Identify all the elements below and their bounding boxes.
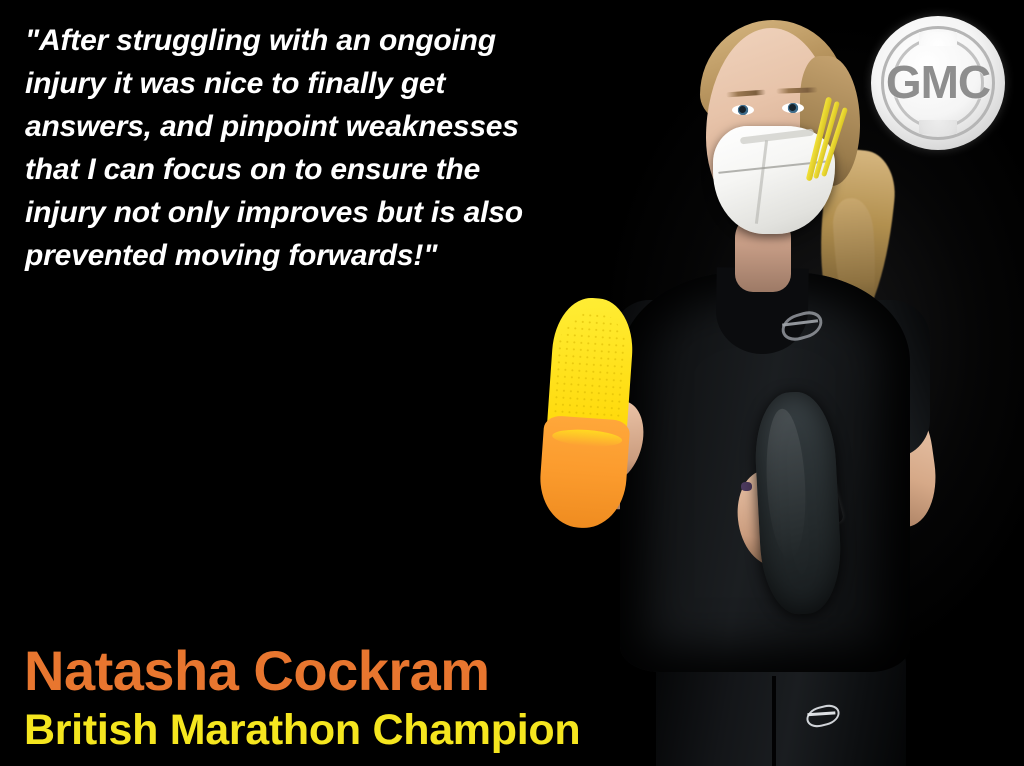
neck [735,212,791,292]
face [706,28,836,224]
hair-side [800,56,860,186]
asics-logo-icon [804,702,842,730]
mask-center-seam [755,140,768,224]
gmc-logo-ring-gap-top [919,32,957,46]
mask-strap-icon [813,101,840,179]
torso-tshirt [620,272,910,672]
mask-strap-icon [806,97,833,182]
leggings [656,640,906,766]
mask-fold-line [718,160,830,174]
attribution-block: Natasha Cockram British Marathon Champio… [18,640,638,760]
shirt-sleeve-right [858,300,930,458]
testimonial-quote: "After struggling with an ongoing injury… [25,19,585,277]
eyebrow-right [776,87,818,93]
fingernail [741,482,752,491]
left-arm [586,388,668,515]
insole-forefoot-orange [537,415,630,531]
leg-separation [772,676,776,766]
shirt-v-neckline [715,267,808,355]
gmc-logo-icon: GMC [871,16,1005,150]
wrist-watch [812,470,844,525]
gmc-logo-ring-gap-bottom [919,120,957,134]
gmc-logo-text: GMC [871,56,1005,108]
pupil-right [789,104,796,111]
person-name: Natasha Cockram [24,640,638,702]
ponytail-hair [811,147,899,333]
eye-left [732,105,754,115]
insole-charcoal [752,390,844,616]
eye-right [782,103,804,113]
asics-logo-icon [778,308,826,345]
mask-strap-icon [821,107,848,177]
hair [700,20,846,130]
shirt-sleeve-left [612,300,682,450]
eyebrow-left [726,90,766,98]
face-mask [713,126,835,234]
ponytail-strand [831,197,881,339]
testimonial-graphic: "After struggling with an ongoing injury… [0,0,1024,766]
mask-nose-wire [740,129,814,145]
person-title: British Marathon Champion [24,704,638,756]
right-arm [847,393,942,533]
insole-heel-yellow [545,295,636,460]
hand-right [733,467,807,569]
insole-color-transition [552,428,623,449]
insole-texture-dots [549,310,631,457]
insole-highlight [763,408,809,560]
hand-left [579,395,652,490]
insole-yellow-orange [540,295,636,528]
pupil-left [739,106,746,113]
